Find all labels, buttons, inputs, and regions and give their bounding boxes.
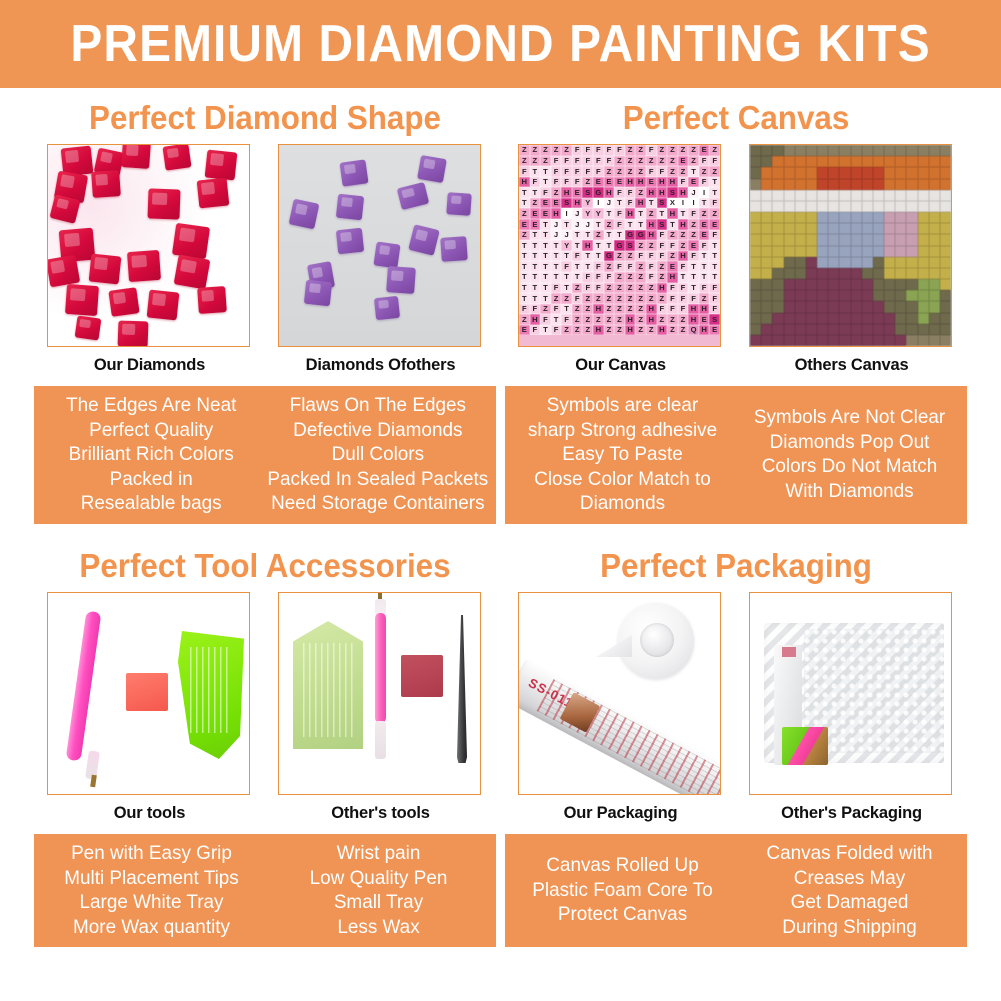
canvas-symbol-cell: F [582,272,593,283]
diamond-bead [89,254,122,285]
diamond-bead [147,290,180,321]
canvas-symbol-cell: Z [646,208,657,219]
canvas-mosaic-cell [839,145,850,156]
diamond-bead [172,223,210,259]
canvas-symbol-cell: F [667,304,678,315]
canvas-mosaic-cell [795,156,806,167]
canvas-symbol-cell: F [604,272,615,283]
canvas-mosaic-cell [862,290,873,301]
mailer-seal-mark [782,647,796,657]
canvas-symbol-cell: H [635,177,646,188]
canvas-symbol-cell: Z [625,145,636,156]
canvas-mosaic-cell [784,324,795,335]
page-title: PREMIUM DIAMOND PAINTING KITS [70,18,930,70]
canvas-symbol-cell: G [635,230,646,241]
canvas-symbol-cell: S [657,198,668,209]
canvas-mosaic-cell [918,212,929,223]
canvas-symbol-cell: T [519,187,530,198]
canvas-symbol-cell: Z [530,156,541,167]
canvas-mosaic-cell [940,212,951,223]
canvas-mosaic-cell [772,313,783,324]
thumb-caption: Diamonds Ofothers [278,356,483,375]
canvas-symbol-cell: T [519,283,530,294]
canvas-symbol-cell: H [519,177,530,188]
canvas-symbol-cell: F [551,304,562,315]
canvas-symbol-cell: E [530,219,541,230]
panel-line: Flaws On The Edges [268,393,489,418]
canvas-mosaic-cell [851,268,862,279]
canvas-symbol-cell: H [625,325,636,336]
image-our-diamonds [47,144,250,347]
canvas-symbol-cell: Z [582,304,593,315]
diamond-bead [304,280,332,307]
canvas-mosaic-cell [895,290,906,301]
canvas-mosaic-cell [884,313,895,324]
canvas-symbol-cell: F [604,156,615,167]
canvas-symbol-cell: Z [678,145,689,156]
canvas-mosaic-cell [862,257,873,268]
canvas-mosaic-cell [772,179,783,190]
canvas-mosaic-cell [772,201,783,212]
canvas-symbol-cell: H [635,198,646,209]
canvas-symbol-cell: Z [572,314,583,325]
canvas-mosaic-cell [839,212,850,223]
diamond-bead [289,199,320,230]
wax-square-icon [126,673,168,711]
canvas-mosaic-cell [895,223,906,234]
canvas-symbol-cell: Z [646,293,657,304]
canvas-symbol-cell: F [572,293,583,304]
canvas-mosaic-cell [873,246,884,257]
panel-column-others: Canvas Folded withCreases MayGet Damaged… [739,841,959,939]
canvas-mosaic-cell [784,179,795,190]
canvas-mosaic-cell [761,301,772,312]
canvas-mosaic-cell [795,279,806,290]
canvas-symbol-cell: T [551,261,562,272]
canvas-mosaic-cell [839,257,850,268]
canvas-symbol-cell: H [657,177,668,188]
canvas-symbol-cell: Z [688,219,699,230]
diamond-bead [174,254,211,289]
canvas-symbol-cell: Z [667,145,678,156]
thumb-cell-others: Other's Packaging [749,592,954,823]
canvas-mosaic-cell [806,246,817,257]
canvas-symbol-cell: Z [688,230,699,241]
canvas-mosaic-cell [839,156,850,167]
canvas-mosaic-cell [940,234,951,245]
canvas-mosaic-cell [795,145,806,156]
canvas-symbol-cell: T [561,219,572,230]
canvas-symbol-cell: E [688,177,699,188]
diamond-bead [408,224,440,256]
canvas-mosaic-cell [806,301,817,312]
canvas-mosaic-cell [895,324,906,335]
panel-line: Wrist pain [268,841,488,866]
canvas-mosaic-cell [873,335,884,346]
panel-line: More Wax quantity [41,915,261,940]
canvas-symbol-cell: T [561,283,572,294]
canvas-mosaic-cell [839,301,850,312]
canvas-mosaic-cell [918,268,929,279]
canvas-symbol-cell: T [709,251,720,262]
panel-line: Symbols are clear [512,393,732,418]
canvas-symbol-cell: T [709,261,720,272]
canvas-mosaic-cell [884,212,895,223]
canvas-mosaic-cell [806,268,817,279]
canvas-mosaic-cell [750,223,761,234]
canvas-mosaic-cell [906,212,917,223]
canvas-mosaic-cell [918,234,929,245]
canvas-symbol-cell: Z [635,325,646,336]
canvas-mosaic-cell [884,246,895,257]
canvas-mosaic-cell [784,246,795,257]
canvas-mosaic-cell [918,167,929,178]
canvas-symbol-cell: T [551,251,562,262]
diamond-bead [205,150,238,181]
pen-nib-icon [90,775,97,788]
canvas-mosaic-cell [772,257,783,268]
diamond-bead [374,296,400,320]
other-tools-art [279,593,480,794]
canvas-symbol-cell: F [530,304,541,315]
canvas-mosaic-cell [750,313,761,324]
canvas-symbol-cell: Z [646,240,657,251]
canvas-mosaic-cell [862,268,873,279]
canvas-mosaic-cell [772,145,783,156]
canvas-symbol-cell: Z [604,293,615,304]
panel-line: Diamonds [512,491,732,516]
canvas-symbol-cell: F [561,156,572,167]
thumb-cell-ours: Our tools [47,592,252,823]
canvas-mosaic-cell [784,268,795,279]
canvas-mosaic-cell [761,313,772,324]
canvas-symbol-cell: F [519,166,530,177]
diamond-bead [65,284,99,316]
canvas-mosaic-cell [817,212,828,223]
canvas-mosaic-cell [940,268,951,279]
canvas-symbol-cell: Z [678,230,689,241]
canvas-mosaic-cell [862,313,873,324]
canvas-symbol-cell: Z [699,208,710,219]
canvas-symbol-cell: F [582,156,593,167]
canvas-mosaic-cell [895,279,906,290]
diamond-bead [118,320,149,347]
canvas-symbol-cell: Z [561,145,572,156]
canvas-mosaic-cell [784,290,795,301]
other-packaging-art [750,593,951,794]
canvas-symbol-cell: S [561,198,572,209]
canvas-mosaic-cell [817,246,828,257]
canvas-mosaic-cell [750,268,761,279]
canvas-symbol-cell: Z [667,251,678,262]
canvas-symbol-cell: J [604,198,615,209]
image-others-tools [278,592,481,795]
panel-column-ours: Canvas Rolled UpPlastic Foam Core ToProt… [512,841,732,939]
canvas-symbol-cell: Z [582,314,593,325]
panel-line: During Shipping [739,915,959,940]
canvas-mosaic-cell [862,145,873,156]
canvas-symbol-cell: H [582,240,593,251]
panel-column-others: Wrist painLow Quality PenSmall TrayLess … [268,841,488,939]
canvas-symbol-cell: Z [709,166,720,177]
canvas-mosaic-cell [873,324,884,335]
panel-line: With Diamonds [739,479,959,504]
bubble-mailer-icon [764,623,944,763]
canvas-mosaic-cell [862,167,873,178]
canvas-mosaic-cell [761,156,772,167]
our-packaging-art: SS-011 [519,593,720,794]
canvas-mosaic-cell [884,167,895,178]
panel-column-others: Symbols Are Not ClearDiamonds Pop OutCol… [739,393,959,516]
canvas-symbol-cell: Z [678,314,689,325]
canvas-symbol-cell: T [635,219,646,230]
canvas-mosaic-cell [940,301,951,312]
canvas-symbol-cell: Z [561,325,572,336]
canvas-mosaic-cell [795,190,806,201]
canvas-symbol-cell: G [593,187,604,198]
canvas-symbol-cell: T [551,272,562,283]
diamond-bead [75,315,102,340]
canvas-symbol-cell: F [699,283,710,294]
canvas-mosaic-cell [750,167,761,178]
canvas-symbol-cell: H [530,314,541,325]
canvas-symbol-cell: H [646,314,657,325]
canvas-symbol-cell: H [657,325,668,336]
canvas-symbol-cell: H [561,187,572,198]
canvas-mosaic-cell [906,268,917,279]
canvas-symbol-cell: T [540,325,551,336]
canvas-symbol-cell: T [572,240,583,251]
canvas-symbol-cell: Z [646,283,657,294]
canvas-mosaic-cell [940,156,951,167]
diamond-bead [49,194,80,224]
canvas-symbol-cell: X [667,198,678,209]
image-our-canvas: ZZZZZFFFFFZZFZZZZEZZZZFFFFFFZZZZZZEZFFFT… [518,144,721,347]
canvas-mosaic-cell [839,290,850,301]
canvas-mosaic-cell [784,201,795,212]
canvas-mosaic-cell [906,290,917,301]
canvas-symbol-cell: T [530,272,541,283]
panel-line: Perfect Quality [41,418,261,443]
canvas-symbol-cell: G [614,240,625,251]
canvas-mosaic-cell [884,145,895,156]
cap-inner-icon [640,623,674,657]
canvas-symbol-cell: F [657,240,668,251]
canvas-symbol-cell: T [646,198,657,209]
canvas-mosaic-cell [906,246,917,257]
canvas-symbol-cell: Z [561,293,572,304]
canvas-mosaic-cell [862,156,873,167]
comparison-panel: Canvas Rolled UpPlastic Foam Core ToProt… [505,834,967,947]
canvas-mosaic-cell [839,201,850,212]
canvas-mosaic-cell [839,190,850,201]
thumb-caption: Other's Packaging [749,804,954,823]
canvas-symbol-cell: F [604,145,615,156]
canvas-mosaic-cell [862,179,873,190]
canvas-mosaic-cell [795,246,806,257]
diamond-bead [440,236,468,262]
canvas-mosaic-cell [772,268,783,279]
canvas-mosaic-cell [884,156,895,167]
canvas-mosaic-cell [817,324,828,335]
canvas-mosaic-cell [806,223,817,234]
canvas-mosaic-cell [895,257,906,268]
diamond-bead [197,286,227,314]
canvas-symbol-cell: T [540,293,551,304]
canvas-symbol-cell: F [688,251,699,262]
canvas-mosaic-cell [761,246,772,257]
canvas-mosaic-cell [873,279,884,290]
canvas-symbol-cell: S [582,187,593,198]
diamond-bead [336,228,364,255]
canvas-mosaic-cell [929,190,940,201]
canvas-symbol-cell: F [709,304,720,315]
canvas-mosaic-cell [929,279,940,290]
canvas-symbol-cell: T [604,208,615,219]
canvas-symbol-cell: Y [593,208,604,219]
canvas-symbol-cell: I [593,198,604,209]
canvas-mosaic-cell [851,156,862,167]
canvas-mosaic-cell [851,201,862,212]
canvas-mosaic-cell [772,324,783,335]
canvas-symbol-cell: F [657,230,668,241]
canvas-symbol-cell: T [551,240,562,251]
canvas-mosaic-cell [817,301,828,312]
canvas-mosaic-cell [817,201,828,212]
canvas-mosaic-cell [817,279,828,290]
canvas-symbol-cell: Z [519,208,530,219]
canvas-mosaic-cell [862,279,873,290]
canvas-mosaic-cell [839,167,850,178]
section-title: Perfect Canvas [517,100,956,144]
canvas-mosaic-cell [906,190,917,201]
panel-line: Defective Diamonds [268,418,489,443]
canvas-mosaic-cell [929,268,940,279]
canvas-mosaic-cell [806,167,817,178]
section-tool-accessories: Perfect Tool Accessories Our tools [34,548,496,947]
canvas-mosaic-cell [817,335,828,346]
canvas-mosaic-cell [929,201,940,212]
canvas-symbol-cell: T [678,272,689,283]
canvas-symbol-cell: Z [604,166,615,177]
canvas-mosaic-cell [784,212,795,223]
canvas-mosaic-cell [929,212,940,223]
thumbnail-row: SS-011 Our Packaging Other's Pac [505,592,967,823]
canvas-mosaic-cell [772,156,783,167]
canvas-symbol-cell: E [709,219,720,230]
canvas-symbol-cell: Z [614,272,625,283]
canvas-symbol-cell: T [530,187,541,198]
canvas-mosaic-cell [750,301,761,312]
canvas-symbol-cell: F [519,304,530,315]
panel-line: Low Quality Pen [268,866,488,891]
panel-line: Small Tray [268,890,488,915]
canvas-symbol-cell: F [699,177,710,188]
canvas-mosaic-cell [828,257,839,268]
thumb-caption: Other's tools [278,804,483,823]
pale-green-tray-icon [293,621,363,749]
canvas-mosaic-cell [918,279,929,290]
canvas-mosaic-cell [806,156,817,167]
canvas-mosaic-cell [839,223,850,234]
canvas-mosaic-cell [772,290,783,301]
canvas-symbol-cell: Z [540,145,551,156]
canvas-mosaic-cell [851,324,862,335]
canvas-mosaic-cell [750,212,761,223]
canvas-symbol-cell: F [625,187,636,198]
canvas-mosaic-cell [851,223,862,234]
canvas-mosaic-cell [750,234,761,245]
canvas-mosaic-cell [940,167,951,178]
canvas-mosaic-cell [929,246,940,257]
canvas-mosaic-cell [772,246,783,257]
canvas-symbol-cell: F [572,145,583,156]
canvas-mosaic-cell [828,212,839,223]
panel-line: Colors Do Not Match [739,454,959,479]
canvas-mosaic-cell [884,279,895,290]
canvas-mosaic-cell [817,179,828,190]
canvas-mosaic-cell [929,301,940,312]
canvas-mosaic-cell [772,234,783,245]
canvas-symbol-cell: Z [604,304,615,315]
pen-bottom-icon [375,721,386,759]
panel-line: Get Damaged [739,890,959,915]
canvas-symbol-cell: F [572,166,583,177]
thumb-caption: Others Canvas [749,356,954,375]
canvas-mosaic-cell [806,201,817,212]
canvas-mosaic-cell [828,324,839,335]
canvas-symbol-cell: F [678,293,689,304]
canvas-symbol-cell: T [709,177,720,188]
canvas-symbol-cell: F [561,261,572,272]
canvas-symbol-cell: Z [614,304,625,315]
canvas-symbol-cell: F [635,251,646,262]
canvas-symbol-cell: T [551,314,562,325]
canvas-symbol-cell: H [688,304,699,315]
canvas-mosaic-cell [828,301,839,312]
canvas-symbol-cell: F [593,166,604,177]
canvas-mosaic-cell [784,257,795,268]
canvas-symbol-cell: F [709,230,720,241]
canvas-symbol-cell: F [688,293,699,304]
canvas-mosaic-cell [828,313,839,324]
canvas-symbol-cell: Z [614,314,625,325]
canvas-mosaic-cell [884,190,895,201]
canvas-mosaic-cell [784,145,795,156]
canvas-symbol-cell: S [709,314,720,325]
diamond-bead [336,194,364,221]
canvas-symbol-cell: E [614,177,625,188]
canvas-mosaic-cell [895,201,906,212]
canvas-symbol-cell: Z [519,156,530,167]
canvas-symbol-cell: T [540,272,551,283]
canvas-symbol-cell: Z [635,304,646,315]
canvas-mosaic-cell [750,324,761,335]
canvas-mosaic-cell [940,324,951,335]
panel-line: Packed In Sealed Packets [268,467,489,492]
canvas-mosaic-cell [761,167,772,178]
canvas-mosaic-cell [873,234,884,245]
canvas-mosaic-cell [929,223,940,234]
canvas-symbol-cell: Z [625,166,636,177]
canvas-mosaic-cell [906,145,917,156]
canvas-mosaic-cell [918,190,929,201]
canvas-mosaic-cell [761,234,772,245]
canvas-symbol-cell: F [572,156,583,167]
panel-line: Dull Colors [268,442,489,467]
canvas-mosaic-cell [851,190,862,201]
canvas-mosaic-cell [750,335,761,346]
